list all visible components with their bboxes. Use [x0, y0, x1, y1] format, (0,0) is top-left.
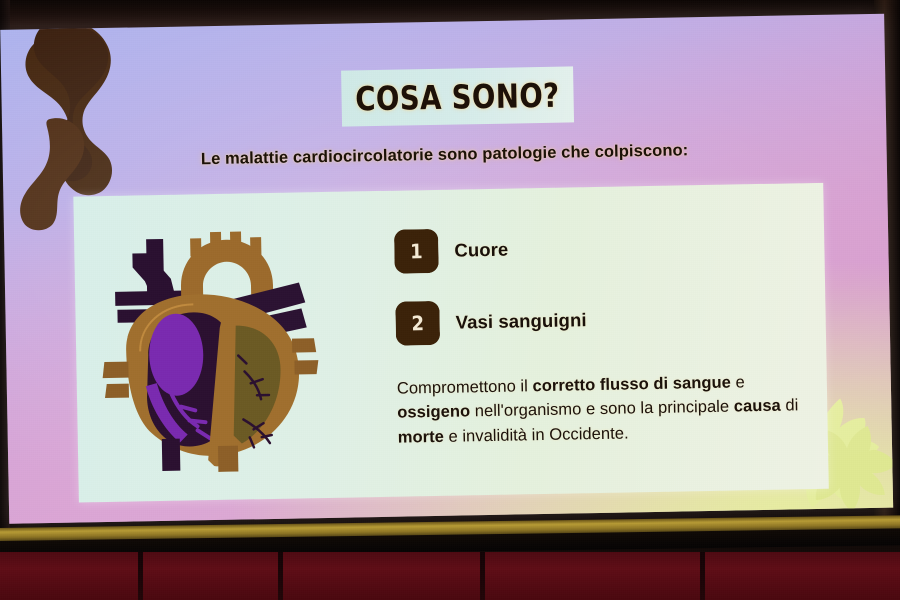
number-badge-1: 1	[394, 229, 439, 274]
curtain-seam	[480, 552, 485, 600]
number-badge-2: 2	[395, 301, 440, 346]
heart-illustration	[94, 222, 329, 474]
content-card: 1 Cuore 2 Vasi sang	[73, 183, 828, 503]
badge-number: 1	[394, 229, 439, 274]
list-item[interactable]: 1 Cuore	[394, 217, 805, 279]
curtain-seam	[278, 552, 283, 600]
list-item[interactable]: 2 Vasi sanguigni	[395, 289, 806, 351]
numbered-list: 1 Cuore 2 Vasi sang	[394, 217, 807, 368]
presentation-slide: COSA SONO? Le malattie cardiocircolatori…	[0, 14, 893, 524]
list-item-label: Cuore	[454, 239, 508, 262]
list-item-label: Vasi sanguigni	[455, 309, 586, 333]
badge-number: 2	[395, 301, 440, 346]
curtain-seam	[138, 552, 143, 600]
title-band: COSA SONO?	[341, 66, 574, 126]
auditorium-curtain	[0, 552, 900, 600]
curtain-seam	[700, 552, 705, 600]
page-title: COSA SONO?	[355, 75, 560, 118]
body-paragraph: Compromettono il corretto flusso di sang…	[397, 369, 818, 449]
projection-screen: COSA SONO? Le malattie cardiocircolatori…	[0, 0, 900, 528]
photo-scene: COSA SONO? Le malattie cardiocircolatori…	[0, 0, 900, 600]
